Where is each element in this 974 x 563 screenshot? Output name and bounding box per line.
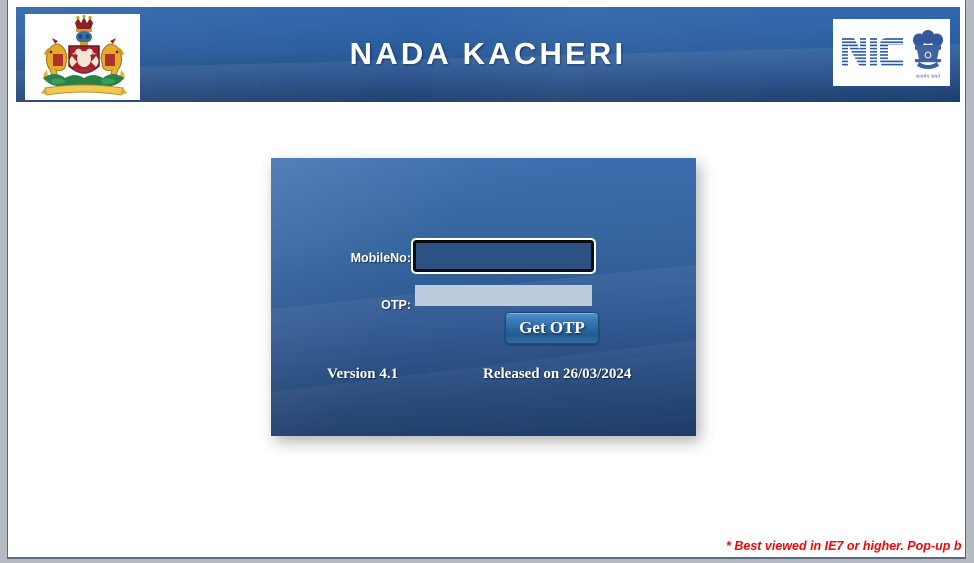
mobile-number-input[interactable] [413, 240, 594, 272]
mobile-number-label: MobileNo: [291, 251, 411, 265]
version-text: Version 4.1 [327, 366, 398, 383]
otp-input[interactable] [415, 285, 592, 306]
karnataka-state-emblem-icon [25, 14, 140, 100]
page-bottom-gutter [0, 559, 974, 563]
otp-label: OTP: [291, 298, 411, 312]
svg-text:सत्यमेव जयते: सत्यमेव जयते [916, 73, 940, 80]
get-otp-button[interactable]: Get OTP [505, 312, 599, 344]
otp-login-panel: MobileNo: OTP: Get OTP Version 4.1 Relea… [271, 158, 696, 436]
site-header: NADA KACHERI [16, 7, 960, 102]
page-right-gutter [967, 0, 974, 563]
browser-page-frame: NADA KACHERI [0, 0, 974, 563]
page-content-area: NADA KACHERI [7, 0, 966, 559]
nic-logo-icon: सत्यमेव जयते [833, 19, 950, 86]
browser-compatibility-note: * Best viewed in IE7 or higher. Pop-up b [726, 539, 966, 553]
release-date-text: Released on 26/03/2024 [483, 366, 631, 383]
panel-light-streak [271, 256, 696, 427]
page-title: NADA KACHERI [16, 7, 960, 102]
